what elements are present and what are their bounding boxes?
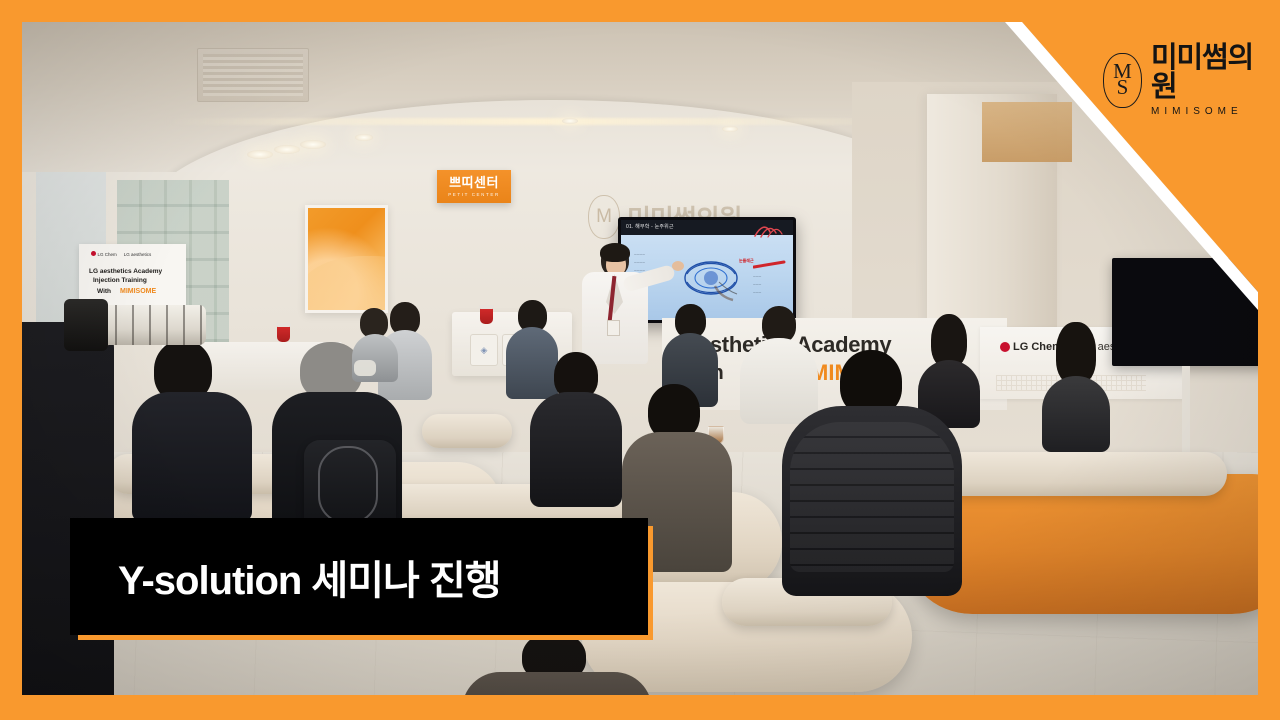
- cup-lid: [276, 323, 291, 327]
- brand-logo: M S 미미썸의원 MIMISOME: [1103, 52, 1273, 108]
- slide-callout: ㅡㅡㅡ: [753, 275, 761, 279]
- backpack-strap: [318, 446, 378, 524]
- camera-body: [64, 299, 108, 351]
- bolster-cushion: [927, 452, 1227, 496]
- camera-lens: [98, 305, 206, 345]
- cup-lid: [479, 305, 494, 309]
- brand-text: 미미썸의원 MIMISOME: [1151, 44, 1273, 117]
- downlight: [355, 134, 373, 141]
- slide-swoosh-icon: [753, 223, 787, 239]
- downlight: [247, 150, 273, 159]
- orange-abstract-painting: [305, 205, 388, 313]
- downlight: [722, 126, 738, 132]
- poster-line-1: LG aesthetics Academy: [89, 268, 162, 275]
- red-cup: [480, 307, 493, 324]
- downlight: [274, 145, 300, 154]
- audience-member: [1042, 322, 1110, 447]
- petit-center-sign-en: PETIT CENTER: [448, 192, 500, 197]
- bolster-cushion: [422, 414, 512, 448]
- person-head: [1056, 322, 1096, 384]
- slide-callout: ㅡㅡㅡ: [753, 283, 761, 287]
- slide-pointer-icon: [753, 260, 787, 269]
- cove-light: [162, 118, 922, 125]
- poster-line-3: With: [97, 288, 111, 295]
- person-body: [462, 672, 652, 695]
- table-logo-plaque: ◈: [470, 334, 498, 366]
- mask: [354, 360, 376, 376]
- poster-logos: LG Chem LG aesthetics: [91, 251, 151, 257]
- poster-lg-chem-label: LG Chem: [91, 251, 117, 257]
- wall-logo-monogram-icon: M: [588, 195, 620, 239]
- presenter-badge: [607, 320, 620, 336]
- person-body: [1042, 376, 1110, 452]
- camera-lens-rings: [98, 305, 206, 345]
- caption-text: Y-solution 세미나 진행: [118, 548, 501, 606]
- presenter-hand: [672, 261, 684, 271]
- slide-title: 01. 해부학 - 눈주위근: [626, 223, 674, 230]
- monogram-s-glyph: S: [1117, 77, 1129, 98]
- audience-member: [530, 352, 622, 502]
- petit-center-sign-ko: 쁘띠센터: [449, 176, 499, 189]
- poster-line-2: Injection Training: [93, 277, 147, 284]
- brand-name-en: MIMISOME: [1151, 107, 1273, 117]
- eye-anatomy-diagram-icon: [675, 252, 747, 304]
- brand-monogram-icon: M S: [1103, 53, 1142, 108]
- ceiling-vent-icon: [197, 48, 309, 102]
- presenter: [580, 244, 652, 364]
- slide-callout: ㅡㅡㅡ: [753, 291, 761, 295]
- secondary-tv: [1112, 258, 1258, 366]
- brand-name-ko: 미미썸의원: [1151, 44, 1273, 102]
- lg-mark-icon: [91, 251, 96, 256]
- audience-member: [462, 632, 652, 695]
- person-body: [530, 392, 622, 507]
- poster-line-4: MIMISOME: [120, 288, 156, 295]
- lg-mark-icon: [1000, 342, 1010, 352]
- downlight: [562, 118, 578, 124]
- puffer-jacket-seams: [790, 422, 954, 572]
- caption-bar: Y-solution 세미나 진행: [70, 518, 648, 635]
- red-cup: [277, 325, 290, 342]
- audience-member: [132, 340, 252, 515]
- person-body: [132, 392, 252, 522]
- downlight: [300, 140, 326, 149]
- pillar-wood-panel: [982, 102, 1072, 162]
- poster-canvas: 쁘띠센터 PETIT CENTER M 미미썸의원 01. 해부학 - 눈주위근: [0, 0, 1280, 720]
- slide-accent-label: 눈둘레근: [739, 258, 754, 264]
- presenter-hair: [600, 243, 630, 262]
- petit-center-sign: 쁘띠센터 PETIT CENTER: [437, 170, 511, 203]
- poster-lg-aesthetics-label: LG aesthetics: [124, 252, 152, 257]
